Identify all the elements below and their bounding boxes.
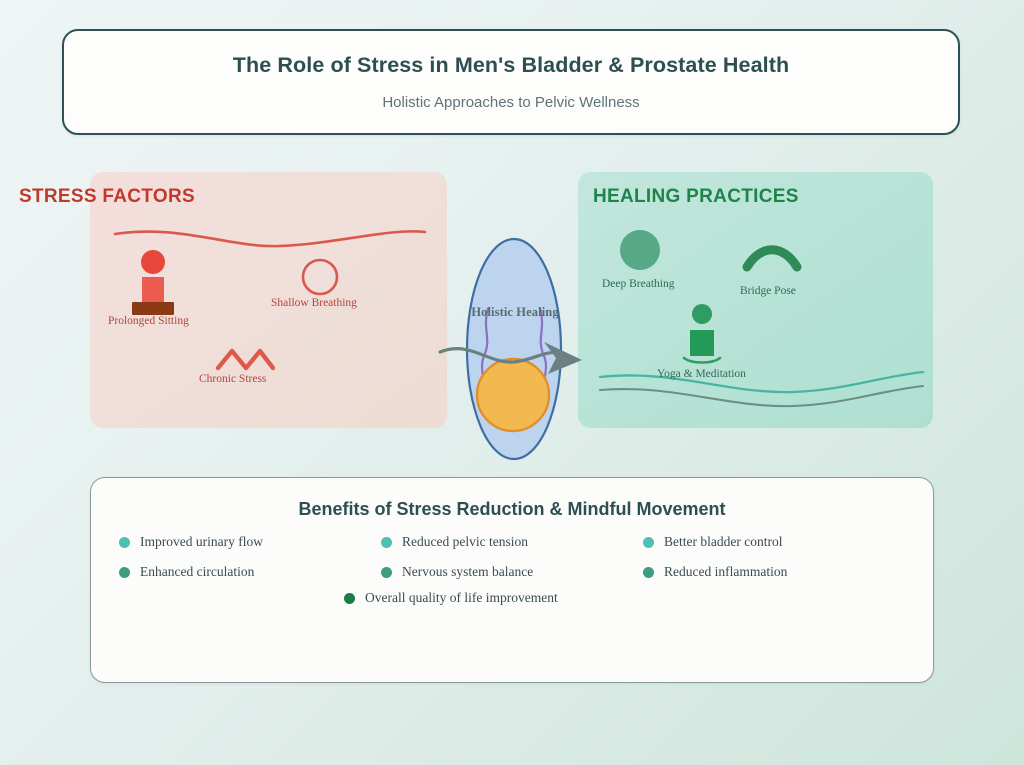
benefit-label: Better bladder control [664,534,782,550]
stress-wave-divider [115,231,425,246]
healing-wave-lower [600,386,923,406]
stress-factors-heading: STRESS FACTORS [19,186,195,208]
stress-panel-graphics [90,172,447,428]
stress-factors-panel [90,172,447,428]
shallow-breathing-circle [303,260,337,294]
label-prolonged-sitting: Prolonged Sitting [108,315,189,327]
benefit-dot-icon [119,567,130,578]
benefits-title: Benefits of Stress Reduction & Mindful M… [91,499,933,520]
meditating-person-head [692,304,712,324]
benefit-item-final: Overall quality of life improvement [344,590,558,606]
page-title: The Role of Stress in Men's Bladder & Pr… [233,53,789,78]
benefit-item: Enhanced circulation [119,564,381,580]
benefit-item: Better bladder control [643,534,905,550]
benefit-dot-icon [381,567,392,578]
benefit-dot-icon [344,593,355,604]
seated-person-chair [132,302,174,315]
benefits-card: Benefits of Stress Reduction & Mindful M… [90,477,934,683]
chronic-stress-zigzag [218,351,273,368]
label-bridge-pose: Bridge Pose [740,285,796,297]
flow-arrow-head [544,342,582,374]
benefit-dot-icon [643,567,654,578]
label-shallow-breathing: Shallow Breathing [271,297,357,309]
flow-arrow-curve [440,349,562,362]
benefit-item: Reduced inflammation [643,564,905,580]
benefit-label: Reduced pelvic tension [402,534,528,550]
benefit-label: Improved urinary flow [140,534,263,550]
benefit-label: Nervous system balance [402,564,533,580]
infographic-canvas: The Role of Stress in Men's Bladder & Pr… [0,0,1024,765]
benefit-label: Enhanced circulation [140,564,254,580]
meditating-person-base [684,358,720,363]
label-deep-breathing: Deep Breathing [602,278,675,290]
benefit-item: Reduced pelvic tension [381,534,643,550]
flow-arrow-icon [430,320,600,390]
healing-practices-heading: HEALING PRACTICES [593,186,799,208]
label-yoga-meditation: Yoga & Meditation [657,368,746,380]
benefit-dot-icon [119,537,130,548]
benefit-dot-icon [381,537,392,548]
header-card: The Role of Stress in Men's Bladder & Pr… [62,29,960,135]
deep-breathing-circle [620,230,660,270]
center-label: Holistic Healing [455,305,575,320]
label-chronic-stress: Chronic Stress [199,373,266,385]
benefit-label: Reduced inflammation [664,564,787,580]
benefits-grid: Improved urinary flow Reduced pelvic ten… [91,534,933,580]
benefit-label: Overall quality of life improvement [365,590,558,606]
page-subtitle: Holistic Approaches to Pelvic Wellness [382,94,639,111]
bridge-pose-arch [747,250,797,267]
benefit-dot-icon [643,537,654,548]
meditating-person-body [690,330,714,356]
seated-person-head [141,250,165,274]
healing-practices-panel [578,172,933,428]
benefit-item: Nervous system balance [381,564,643,580]
healing-panel-graphics [578,172,933,428]
benefit-item: Improved urinary flow [119,534,381,550]
